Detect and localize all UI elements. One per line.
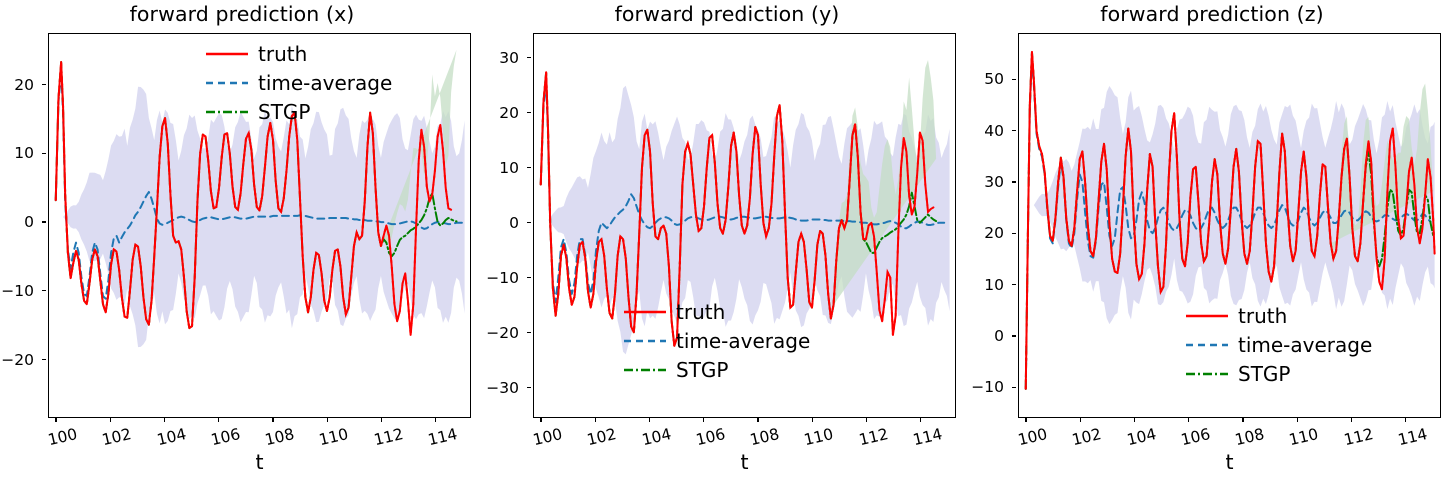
x-tick-label: 102 <box>586 425 619 449</box>
legend-label: truth <box>676 302 725 322</box>
y-tick-mark <box>1012 284 1016 285</box>
y-tick-label: −30 <box>486 379 519 397</box>
x-tick-mark <box>110 418 111 422</box>
x-tick-mark <box>1405 418 1406 422</box>
y-tick-mark <box>1012 181 1016 182</box>
y-tick-mark <box>42 221 46 222</box>
y-tick-mark <box>42 290 46 291</box>
x-tick-label: 104 <box>1125 425 1158 449</box>
y-tick-mark <box>527 57 531 58</box>
x-tick-label: 100 <box>46 425 79 449</box>
legend-swatch-dashed-icon <box>623 332 667 350</box>
x-tick-label: 102 <box>1071 425 1104 449</box>
legend-entry-truth: truth <box>1185 302 1372 330</box>
y-tick-label: 20 <box>14 76 34 94</box>
legend-label: time-average <box>676 331 810 351</box>
x-tick-label: 106 <box>209 425 242 449</box>
x-tick-label: 104 <box>155 425 188 449</box>
y-tick-mark <box>527 277 531 278</box>
x-tick-mark <box>812 418 813 422</box>
legend-label: time-average <box>258 73 392 93</box>
y-axis-y: 3020100−10−20−30 <box>485 33 527 418</box>
legend-z: truthtime-averageSTGP <box>1185 302 1372 388</box>
xlabel-x: t <box>48 450 471 474</box>
x-tick-mark <box>435 418 436 422</box>
y-tick-mark <box>42 359 46 360</box>
legend-swatch-solid-icon <box>1185 307 1229 325</box>
legend-label: truth <box>1238 306 1287 326</box>
x-tick-label: 114 <box>426 425 459 449</box>
x-tick-mark <box>1188 418 1189 422</box>
x-tick-mark <box>381 418 382 422</box>
figure-root: forward prediction (x) 20100−10−20 10010… <box>0 0 1454 483</box>
legend-swatch-solid-icon <box>623 303 667 321</box>
panel-forward-prediction-y: forward prediction (y) 3020100−10−20−30 … <box>485 0 969 483</box>
y-tick-label: 30 <box>499 49 519 67</box>
y-tick-label: 0 <box>509 214 519 232</box>
y-tick-label: 10 <box>984 276 1004 294</box>
x-tick-mark <box>1025 418 1026 422</box>
y-tick-label: 20 <box>984 224 1004 242</box>
x-tick-label: 110 <box>1287 425 1320 449</box>
x-tick-mark <box>757 418 758 422</box>
x-tick-label: 104 <box>640 425 673 449</box>
legend-entry-time-average: time-average <box>623 327 810 355</box>
panel-title-z: forward prediction (z) <box>970 2 1454 26</box>
y-tick-mark <box>1012 130 1016 131</box>
x-tick-mark <box>1080 418 1081 422</box>
panel-forward-prediction-x: forward prediction (x) 20100−10−20 10010… <box>0 0 484 483</box>
x-tick-mark <box>164 418 165 422</box>
xlabel-z: t <box>1018 450 1441 474</box>
y-tick-mark <box>42 153 46 154</box>
legend-entry-truth: truth <box>205 40 392 68</box>
y-tick-label: 30 <box>984 173 1004 191</box>
x-tick-label: 102 <box>101 425 134 449</box>
y-tick-label: −20 <box>486 324 519 342</box>
legend-entry-time-average: time-average <box>205 69 392 97</box>
x-tick-label: 114 <box>1396 425 1429 449</box>
x-tick-label: 108 <box>263 425 296 449</box>
y-tick-mark <box>527 222 531 223</box>
x-tick-mark <box>540 418 541 422</box>
y-axis-z: 50403020100−10 <box>970 33 1012 418</box>
panel-forward-prediction-z: forward prediction (z) 50403020100−10 10… <box>970 0 1454 483</box>
y-tick-label: 0 <box>24 213 34 231</box>
x-tick-label: 110 <box>317 425 350 449</box>
panel-title-x: forward prediction (x) <box>0 2 484 26</box>
y-tick-label: 10 <box>499 159 519 177</box>
legend-label: time-average <box>1238 335 1372 355</box>
legend-label: STGP <box>258 102 310 122</box>
x-tick-mark <box>1242 418 1243 422</box>
y-tick-mark <box>527 387 531 388</box>
x-tick-label: 106 <box>1179 425 1212 449</box>
legend-x: truthtime-averageSTGP <box>205 40 392 126</box>
legend-entry-stgp: STGP <box>1185 360 1372 388</box>
x-tick-label: 100 <box>1016 425 1049 449</box>
x-tick-mark <box>272 418 273 422</box>
panel-title-y: forward prediction (y) <box>485 2 969 26</box>
x-tick-label: 112 <box>1342 425 1375 449</box>
x-tick-mark <box>1297 418 1298 422</box>
x-tick-mark <box>595 418 596 422</box>
y-tick-mark <box>1012 233 1016 234</box>
x-tick-mark <box>1134 418 1135 422</box>
x-tick-mark <box>703 418 704 422</box>
y-tick-label: 10 <box>14 144 34 162</box>
y-tick-mark <box>1012 335 1016 336</box>
x-tick-mark <box>1351 418 1352 422</box>
y-tick-label: 20 <box>499 104 519 122</box>
x-tick-label: 108 <box>1233 425 1266 449</box>
x-tick-mark <box>218 418 219 422</box>
legend-label: STGP <box>1238 364 1290 384</box>
legend-swatch-solid-icon <box>205 45 249 63</box>
x-tick-mark <box>649 418 650 422</box>
x-tick-mark <box>327 418 328 422</box>
y-axis-x: 20100−10−20 <box>0 33 42 418</box>
x-tick-label: 110 <box>802 425 835 449</box>
y-tick-mark <box>1012 387 1016 388</box>
y-tick-mark <box>1012 79 1016 80</box>
x-tick-label: 112 <box>857 425 890 449</box>
legend-entry-truth: truth <box>623 298 810 326</box>
y-tick-label: −20 <box>1 351 34 369</box>
legend-entry-stgp: STGP <box>623 356 810 384</box>
y-tick-label: 0 <box>994 327 1004 345</box>
y-tick-label: −10 <box>486 269 519 287</box>
legend-entry-time-average: time-average <box>1185 331 1372 359</box>
legend-swatch-dashed-icon <box>205 74 249 92</box>
legend-swatch-dashdot-icon <box>205 103 249 121</box>
x-tick-label: 114 <box>911 425 944 449</box>
legend-y: truthtime-averageSTGP <box>623 298 810 384</box>
y-tick-label: −10 <box>971 378 1004 396</box>
x-tick-label: 100 <box>531 425 564 449</box>
y-tick-mark <box>527 112 531 113</box>
x-tick-mark <box>920 418 921 422</box>
x-tick-label: 112 <box>372 425 405 449</box>
y-tick-label: 50 <box>984 70 1004 88</box>
xlabel-y: t <box>533 450 956 474</box>
legend-swatch-dashdot-icon <box>1185 365 1229 383</box>
y-tick-label: 40 <box>984 122 1004 140</box>
legend-swatch-dashed-icon <box>1185 336 1229 354</box>
y-tick-mark <box>527 167 531 168</box>
legend-entry-stgp: STGP <box>205 98 392 126</box>
y-tick-label: −10 <box>1 282 34 300</box>
y-tick-mark <box>42 84 46 85</box>
x-tick-label: 108 <box>748 425 781 449</box>
x-tick-mark <box>55 418 56 422</box>
legend-label: truth <box>258 44 307 64</box>
x-tick-mark <box>866 418 867 422</box>
legend-swatch-dashdot-icon <box>623 361 667 379</box>
y-tick-mark <box>527 332 531 333</box>
x-tick-label: 106 <box>694 425 727 449</box>
legend-label: STGP <box>676 360 728 380</box>
